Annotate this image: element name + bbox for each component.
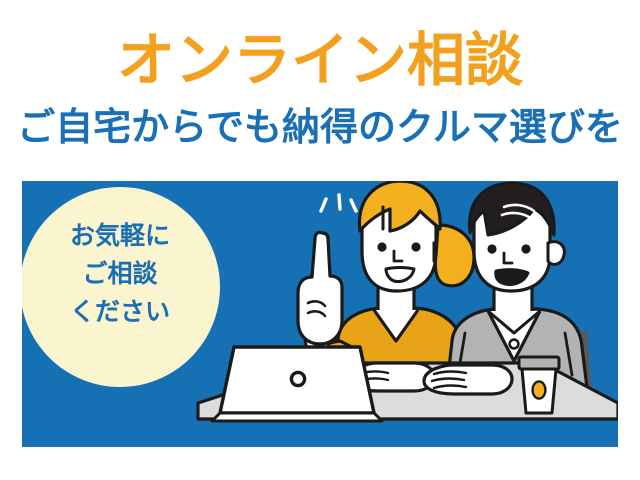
coffee-cup-lid [519, 357, 559, 369]
man-resting-hand [424, 365, 512, 394]
woman-left-eye [377, 242, 386, 251]
online-consultation-banner: オンライン相談 ご自宅からでも納得のクルマ選びを [0, 0, 640, 480]
pointing-hand-icon [298, 232, 342, 344]
man-right-eye [521, 244, 530, 253]
coffee-cup [519, 357, 559, 413]
laptop-base [212, 413, 382, 421]
laptop [212, 347, 382, 421]
man-shirt-button [510, 340, 519, 349]
woman-ponytail [435, 225, 474, 286]
woman-right-eye [411, 242, 420, 251]
badge-line-2: ご相談 [22, 255, 220, 293]
sparkle-icon [321, 195, 356, 211]
badge-line-3: ください [22, 293, 220, 331]
page-title: オンライン相談 [0, 28, 640, 92]
illustration-panel: お気軽に ご相談 ください [22, 181, 618, 447]
header: オンライン相談 ご自宅からでも納得のクルマ選びを [0, 0, 640, 178]
badge-line-1: お気軽に [22, 217, 220, 255]
page-subtitle: ご自宅からでも納得のクルマ選びを [0, 104, 640, 150]
coffee-cup-logo-icon [533, 381, 546, 398]
man-left-eye [487, 244, 496, 253]
badge-text: お気軽に ご相談 ください [22, 217, 220, 331]
laptop-lid [220, 347, 374, 413]
man-ear [548, 242, 564, 265]
status-badge: お気軽に ご相談 ください [22, 187, 220, 387]
